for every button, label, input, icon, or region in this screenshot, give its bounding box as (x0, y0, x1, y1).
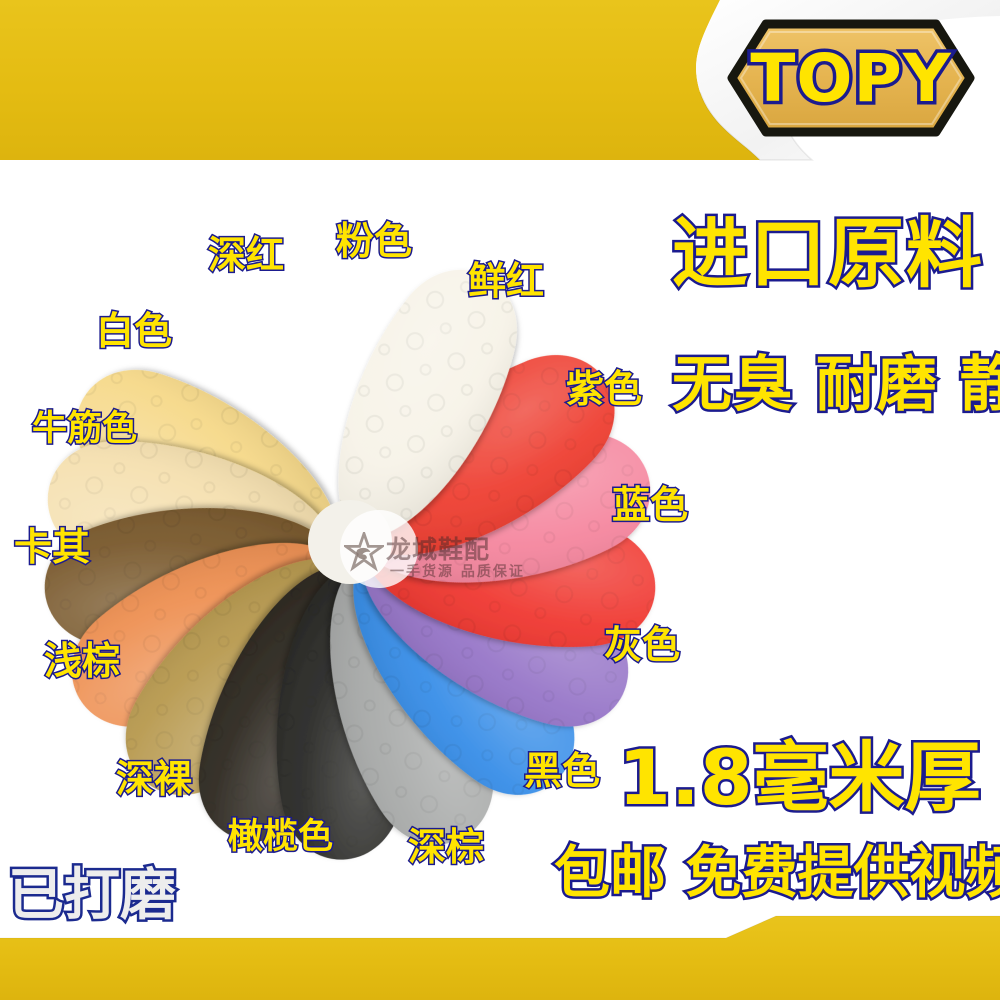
swatch-label: 灰色 (604, 626, 680, 664)
swatch-label: 粉色 (336, 222, 412, 260)
swatch-label: 鲜红 (468, 262, 544, 300)
promo-features: 无臭 耐磨 静音 (672, 355, 1000, 415)
swatch-label: 白色 (96, 312, 172, 350)
swatch-label: 卡其 (14, 528, 90, 566)
fan-hub (308, 500, 392, 584)
topy-badge-label: TOPY (726, 18, 976, 138)
swatch-label: 深裸 (116, 760, 192, 798)
swatch-label: 浅棕 (44, 642, 120, 680)
product-advertisement-image: 龙城鞋配 一手货源 品质保证 TOPY 白色深红粉色鲜红紫色蓝色灰色黑色深棕橄榄… (0, 0, 1000, 1000)
swatch-label: 牛筋色 (32, 412, 137, 447)
topy-brand-badge: TOPY (726, 18, 976, 138)
swatch-label: 黑色 (524, 752, 600, 790)
swatch-label: 深棕 (408, 828, 484, 866)
promo-imported-material: 进口原料 (672, 216, 984, 292)
promo-shipping: 包邮 免费提供视频教程 (554, 846, 1000, 902)
promo-polished: 已打磨 (8, 868, 176, 924)
swatch-label: 深红 (208, 236, 284, 274)
swatch-label: 蓝色 (612, 486, 688, 524)
swatch-label: 橄榄色 (228, 820, 333, 855)
swatch-label: 紫色 (566, 370, 642, 408)
promo-thickness: 1.8毫米厚 (618, 740, 981, 816)
